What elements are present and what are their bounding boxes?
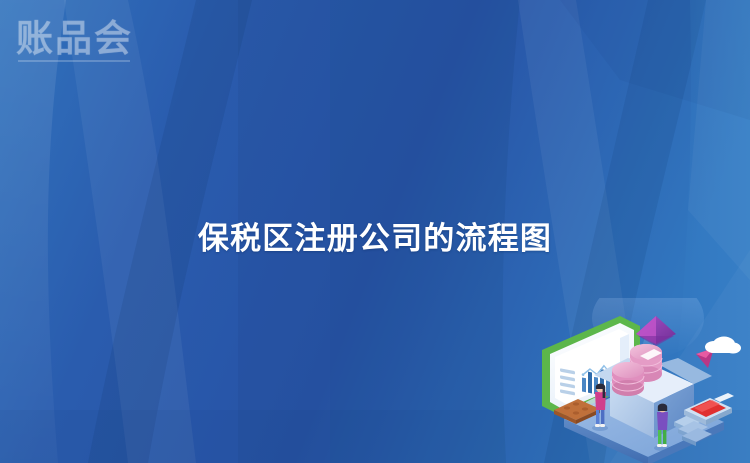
poster-canvas: 账品会 保税区注册公司的流程图 xyxy=(0,0,750,463)
watermark-logo: 账品会 xyxy=(16,17,133,61)
isometric-illustration xyxy=(528,298,750,463)
page-title: 保税区注册公司的流程图 xyxy=(0,213,750,258)
watermark-underline xyxy=(18,60,130,62)
cloud-icon xyxy=(705,337,741,354)
